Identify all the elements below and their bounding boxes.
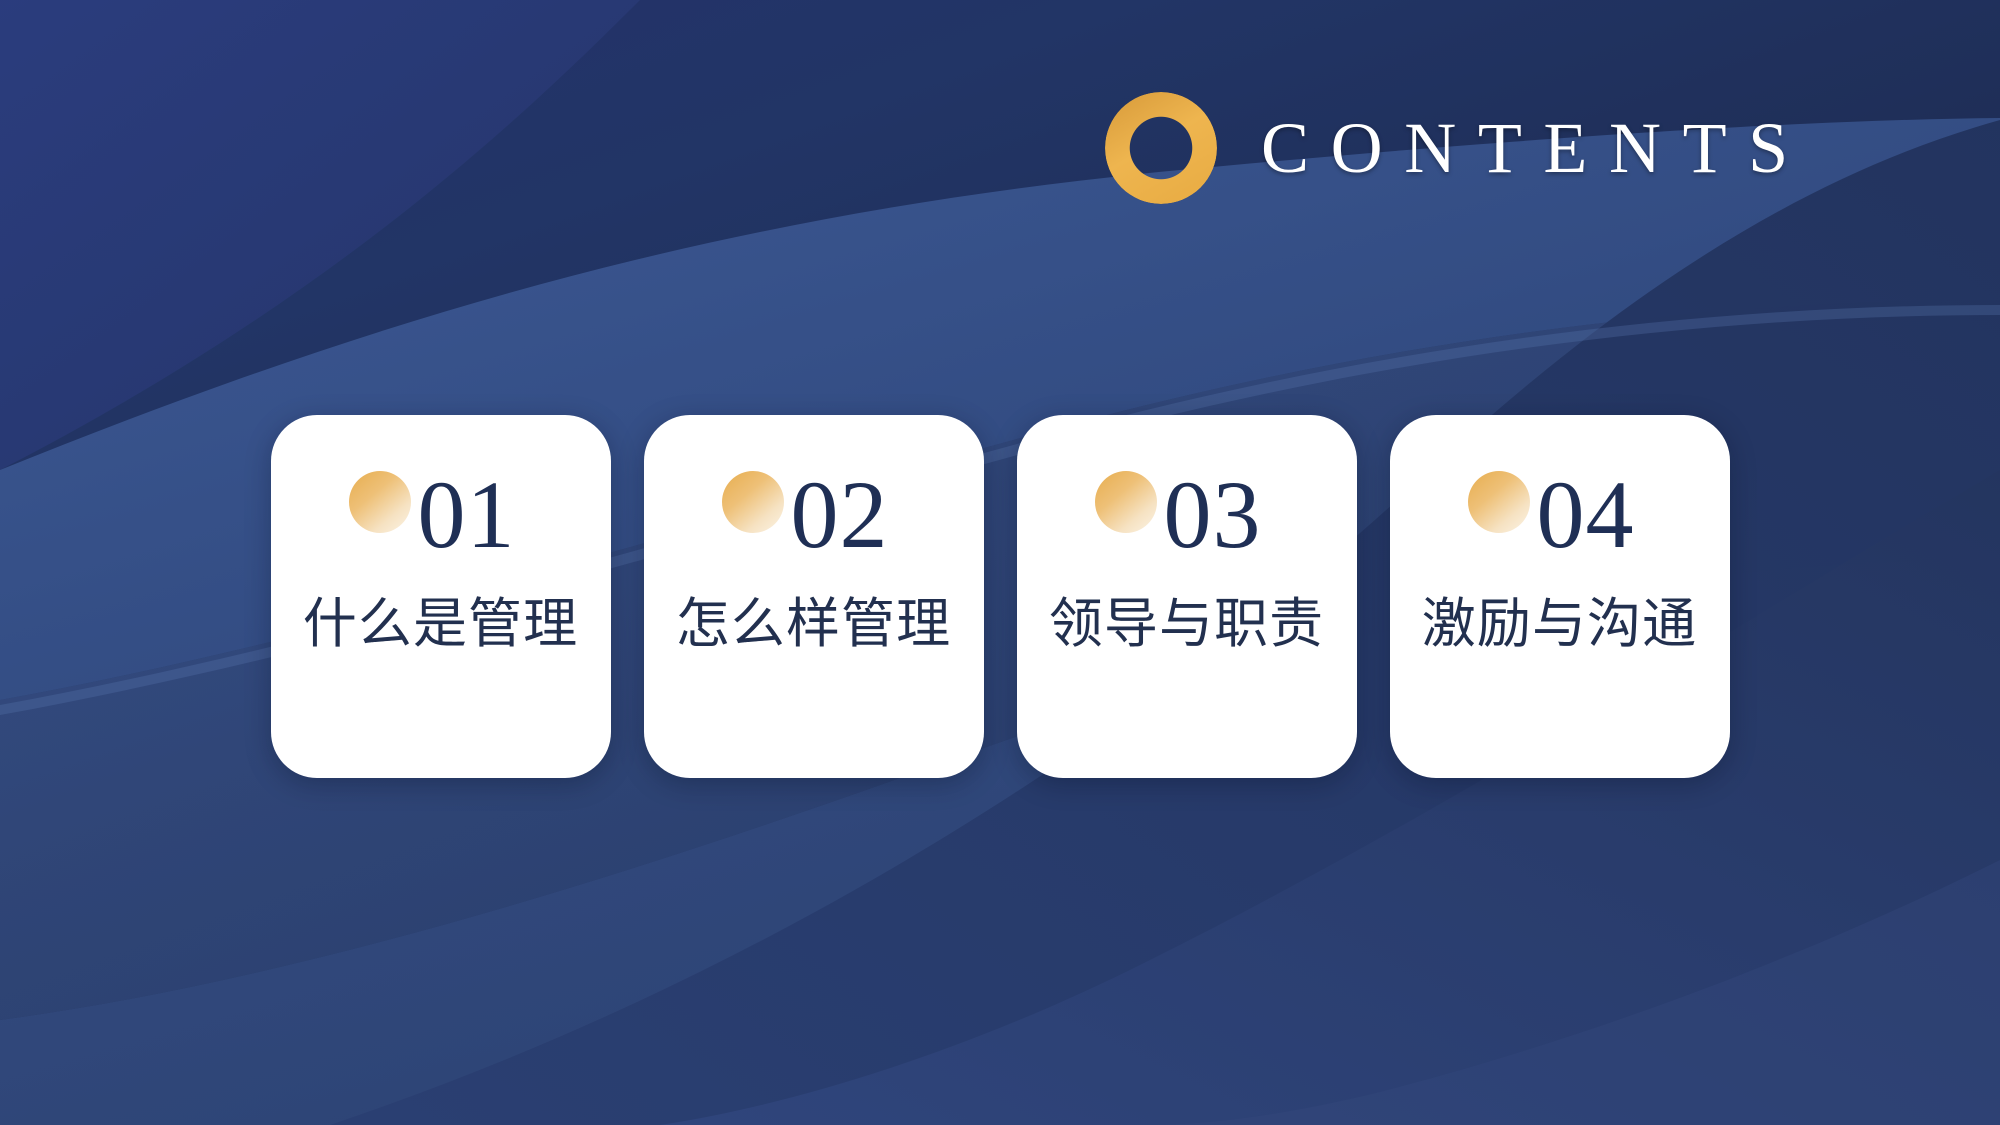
- card-number: 01: [418, 467, 516, 563]
- contents-card-list: 01 什么是管理 02 怎么样管理 03 领导与职责 04 激励与沟通: [0, 415, 2000, 778]
- ring-icon: [1105, 92, 1217, 204]
- gold-dot-icon: [722, 471, 784, 533]
- gold-dot-icon: [349, 471, 411, 533]
- card-number-row: 03: [1017, 453, 1357, 577]
- card-label: 什么是管理: [303, 595, 578, 654]
- gold-dot-icon: [1468, 471, 1530, 533]
- card-label: 怎么样管理: [676, 595, 951, 654]
- card-number: 02: [791, 467, 889, 563]
- gold-dot-icon: [1095, 471, 1157, 533]
- card-number-row: 01: [271, 453, 611, 577]
- card-label: 激励与沟通: [1422, 595, 1697, 654]
- slide-canvas: CONTENTS 01 什么是管理 02 怎么样管理 03 领导与职责: [0, 0, 2000, 1125]
- card-number-row: 02: [644, 453, 984, 577]
- contents-card-04[interactable]: 04 激励与沟通: [1390, 415, 1730, 778]
- card-number: 04: [1537, 467, 1635, 563]
- contents-header: CONTENTS: [1105, 92, 1810, 204]
- card-number-row: 04: [1390, 453, 1730, 577]
- page-title: CONTENTS: [1261, 112, 1810, 184]
- contents-card-02[interactable]: 02 怎么样管理: [644, 415, 984, 778]
- contents-card-01[interactable]: 01 什么是管理: [271, 415, 611, 778]
- card-label: 领导与职责: [1049, 595, 1324, 654]
- card-number: 03: [1164, 467, 1262, 563]
- contents-card-03[interactable]: 03 领导与职责: [1017, 415, 1357, 778]
